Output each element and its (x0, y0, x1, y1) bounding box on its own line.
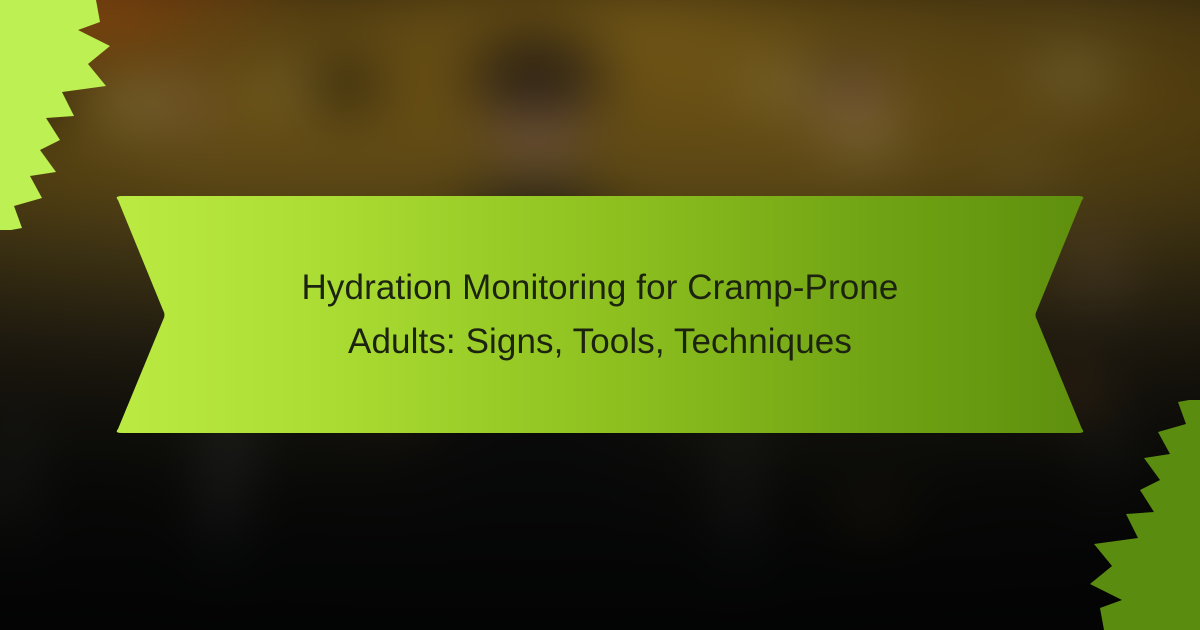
share-card: Hydration Monitoring for Cramp-Prone Adu… (0, 0, 1200, 630)
banner-title: Hydration Monitoring for Cramp-Prone Adu… (278, 196, 922, 433)
title-line-1: Hydration Monitoring for Cramp-Prone (302, 261, 899, 314)
title-line-2: Adults: Signs, Tools, Techniques (348, 315, 852, 368)
title-banner: Hydration Monitoring for Cramp-Prone Adu… (108, 196, 1092, 433)
